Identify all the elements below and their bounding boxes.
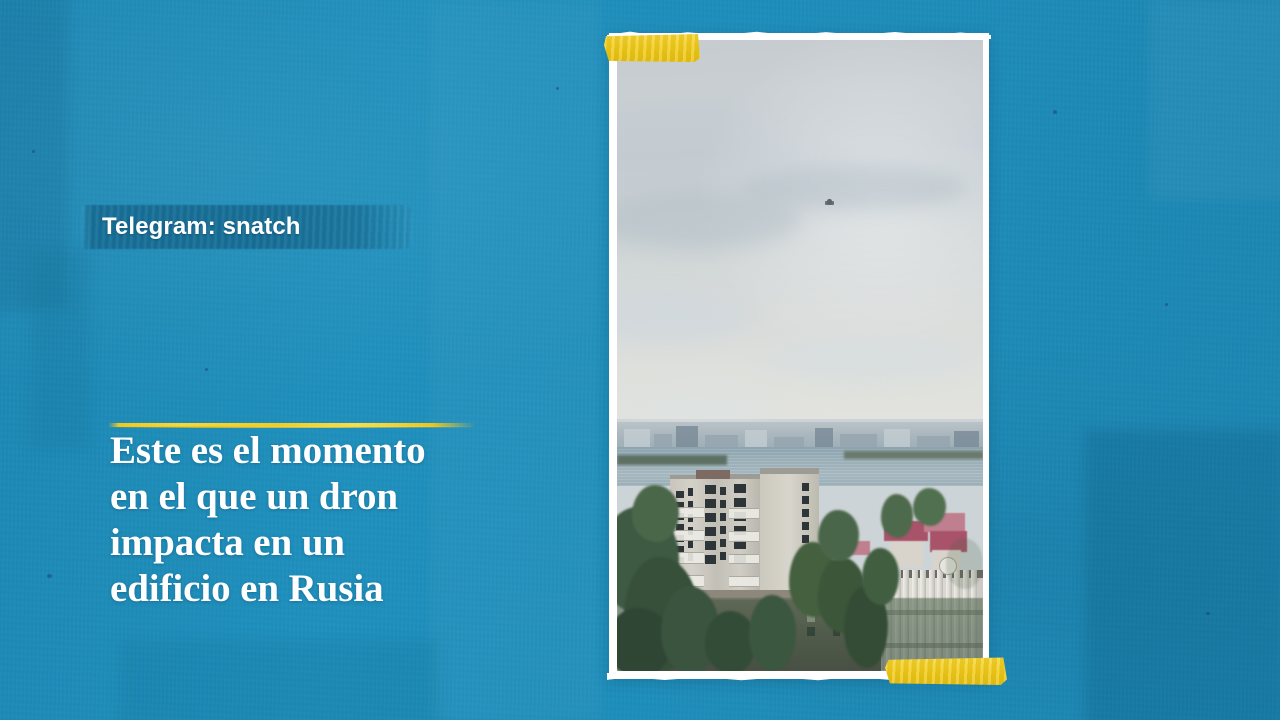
distant-building: [676, 426, 698, 447]
headline-line-2: en el que un dron: [110, 474, 540, 520]
distant-building: [624, 429, 650, 447]
distant-building: [745, 430, 767, 447]
tower-roof-cap: [696, 470, 731, 478]
distant-building: [840, 434, 877, 447]
distant-cityscape: [617, 422, 983, 447]
tower-roof-cap: [760, 468, 819, 474]
tree: [632, 485, 680, 542]
tower-balcony-band: [729, 531, 759, 542]
distant-building: [705, 435, 738, 447]
tape-top-left: [604, 34, 700, 62]
cloud: [763, 337, 975, 381]
tree: [913, 488, 946, 526]
tree: [749, 595, 797, 671]
distant-building: [954, 431, 980, 447]
tower-window-column: [720, 487, 726, 604]
drone-silhouette: [827, 199, 832, 205]
distant-building: [815, 428, 833, 447]
photo-image: [617, 40, 983, 671]
paint-speck: [556, 87, 559, 90]
source-credit-band: Telegram: snatch: [82, 205, 412, 249]
social-video-card: Telegram: snatch Este es el momento en e…: [0, 0, 1280, 720]
tree: [818, 510, 858, 560]
tower-window-column: [734, 484, 746, 605]
cloud: [624, 387, 770, 425]
headline-line-1: Este es el momento: [110, 428, 540, 474]
paint-speck: [1165, 303, 1168, 306]
tower-balcony-band: [729, 554, 759, 565]
tape-bottom-right: [885, 657, 1007, 685]
distant-building: [774, 437, 803, 447]
distant-building: [917, 436, 950, 447]
paint-speck: [32, 150, 35, 153]
distant-building: [654, 434, 672, 447]
paint-speck: [1206, 612, 1210, 615]
photo-card: [609, 33, 989, 679]
paint-speck: [1053, 110, 1057, 114]
far-shoreline: [617, 455, 727, 464]
headline: Este es el momento en el que un dron imp…: [110, 428, 540, 612]
tree: [946, 538, 983, 588]
tower-window-column: [705, 485, 716, 605]
headline-line-4: edificio en Rusia: [110, 566, 540, 612]
headline-line-3: impacta en un: [110, 520, 540, 566]
tower-balcony-band: [729, 576, 759, 587]
source-credit-label: Telegram: snatch: [102, 213, 301, 241]
paint-speck: [205, 368, 208, 371]
distant-building: [884, 429, 910, 447]
tower-balcony-band: [729, 508, 759, 519]
photo-frame: [609, 33, 989, 679]
far-shoreline: [844, 451, 983, 459]
paint-speck: [47, 574, 52, 578]
tree: [862, 548, 899, 605]
